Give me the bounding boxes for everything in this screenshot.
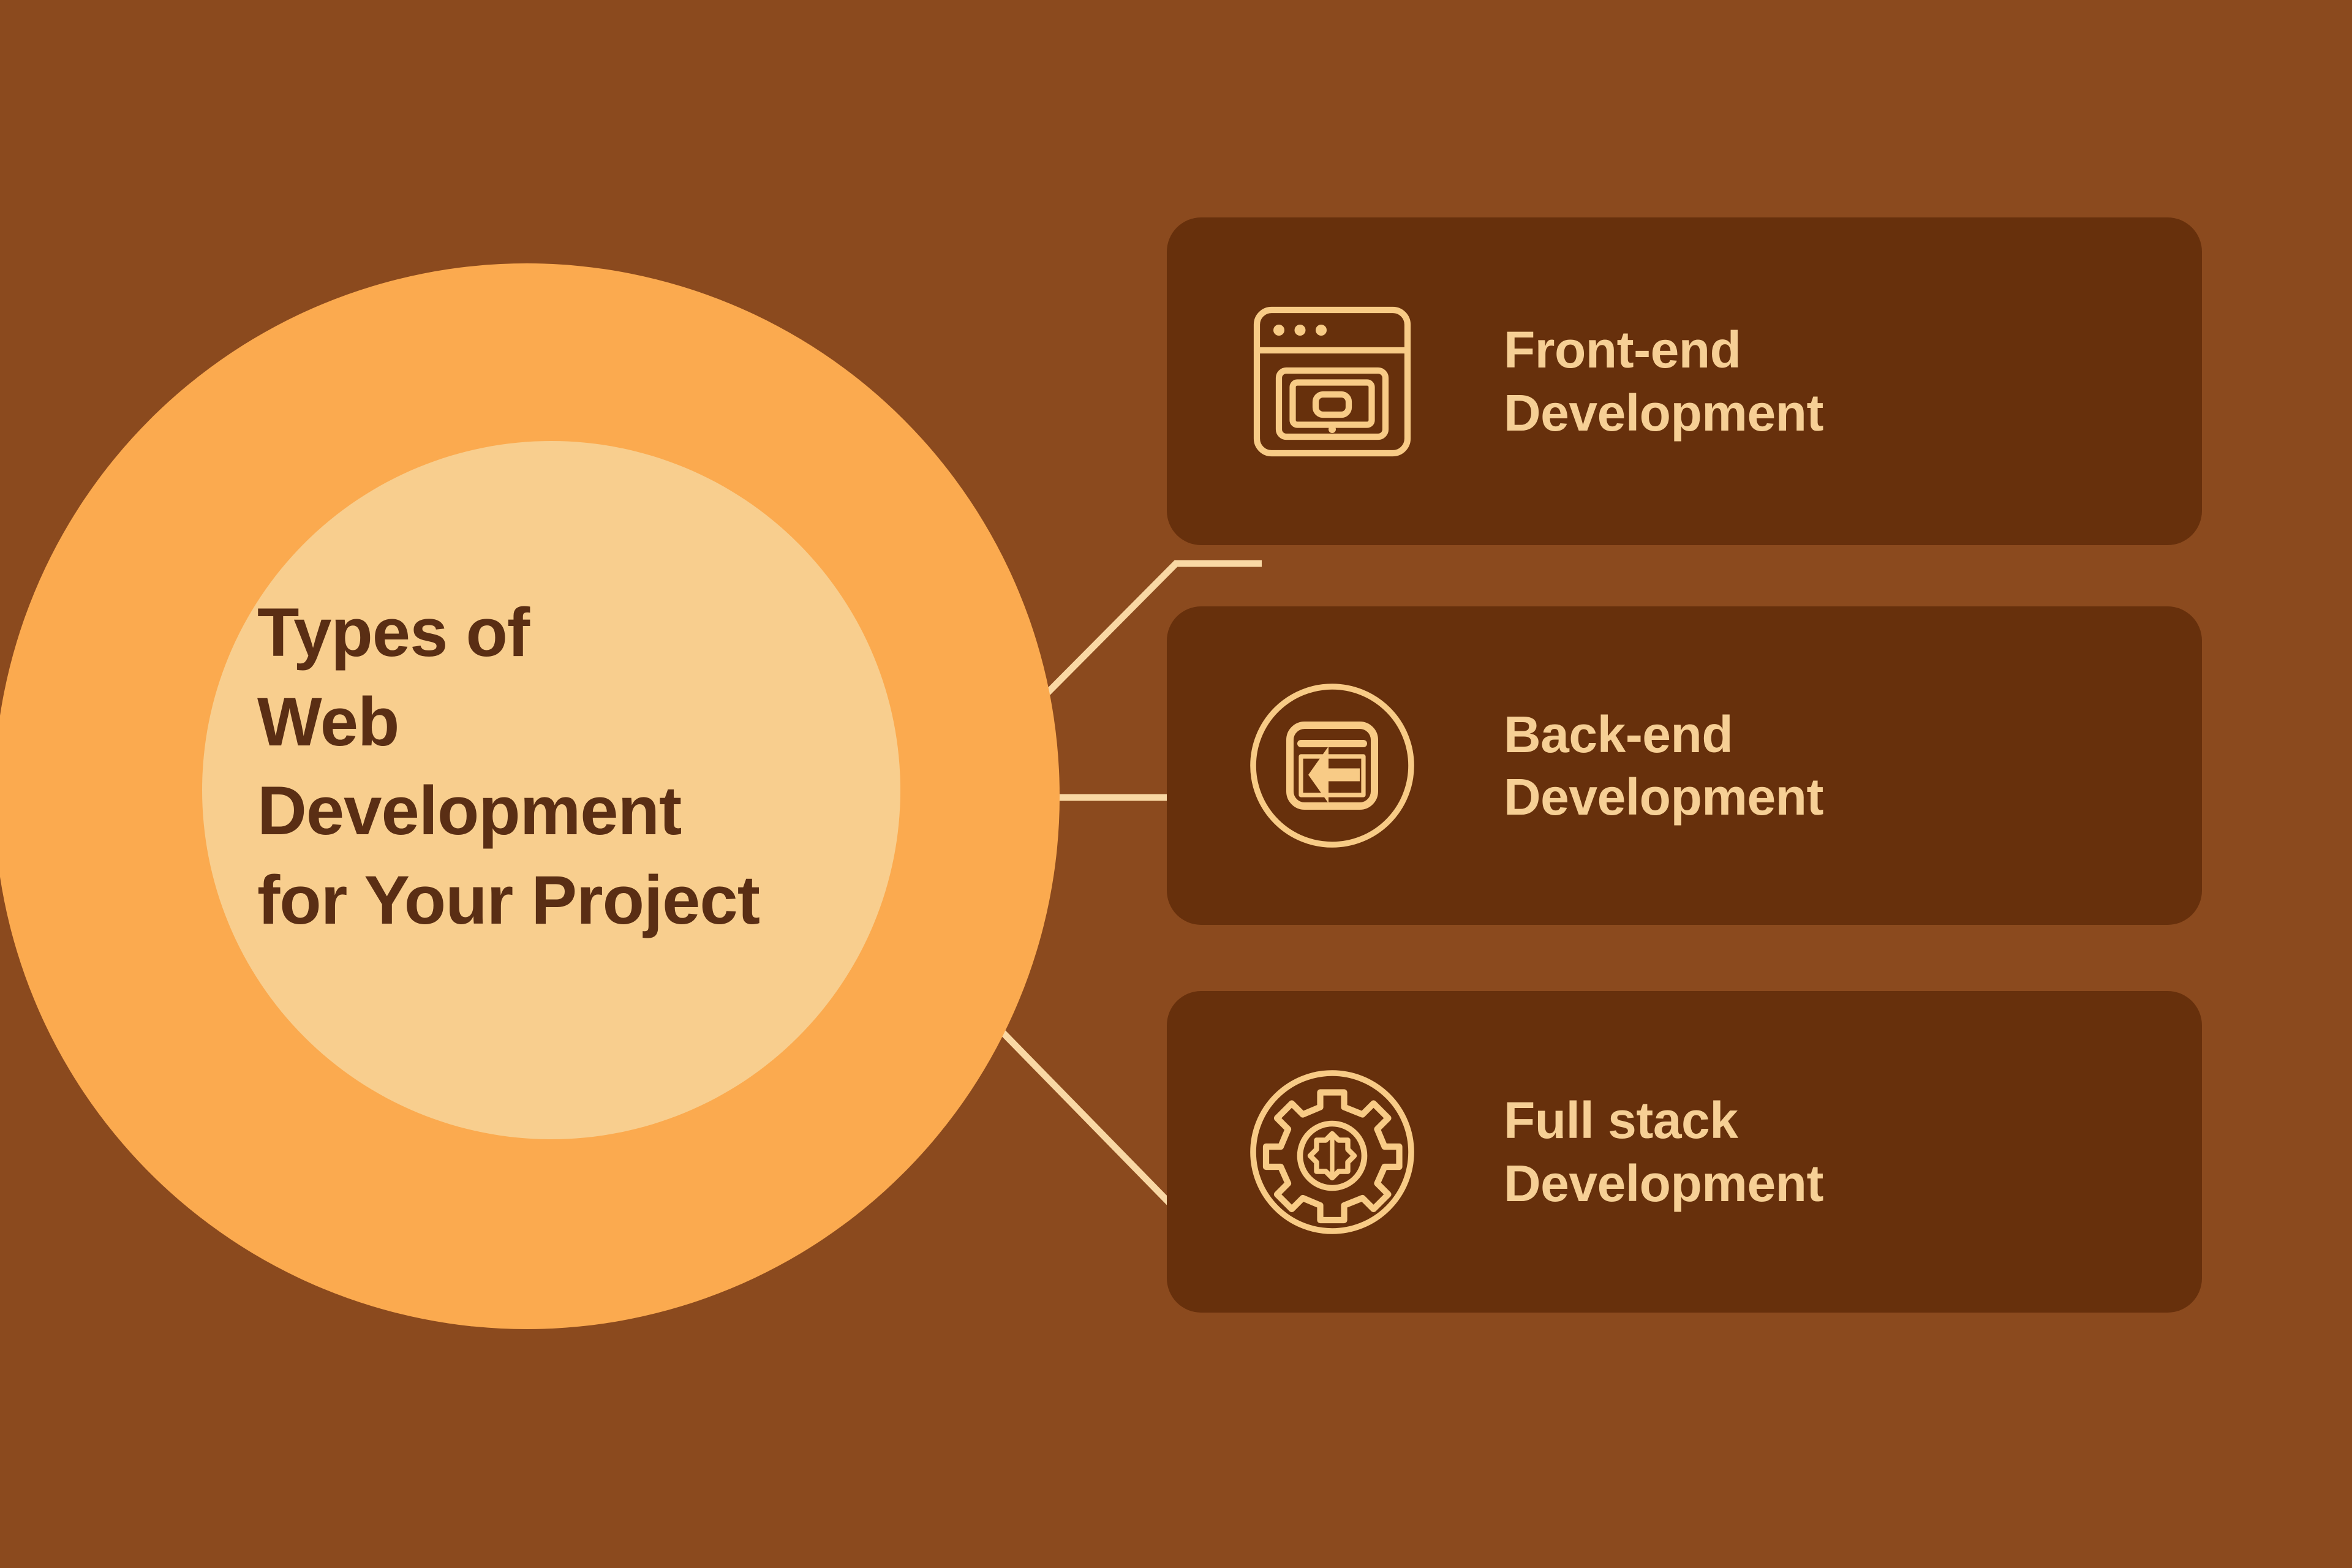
- card-back-end[interactable]: Back-end Development: [1167, 606, 2202, 925]
- gear-circle-icon: [1240, 1060, 1504, 1244]
- server-response-circle-icon: [1240, 674, 1504, 858]
- infographic-canvas: Types of Web Development for Your Projec…: [0, 0, 2352, 1568]
- browser-window-icon: [1240, 290, 1504, 473]
- hub-title: Types of Web Development for Your Projec…: [257, 588, 980, 944]
- card-label-back-end: Back-end Development: [1504, 703, 1823, 829]
- card-label-full-stack: Full stack Development: [1504, 1089, 1823, 1215]
- card-front-end[interactable]: Front-end Development: [1167, 217, 2202, 545]
- card-full-stack[interactable]: Full stack Development: [1167, 991, 2202, 1313]
- card-label-front-end: Front-end Development: [1504, 318, 1823, 444]
